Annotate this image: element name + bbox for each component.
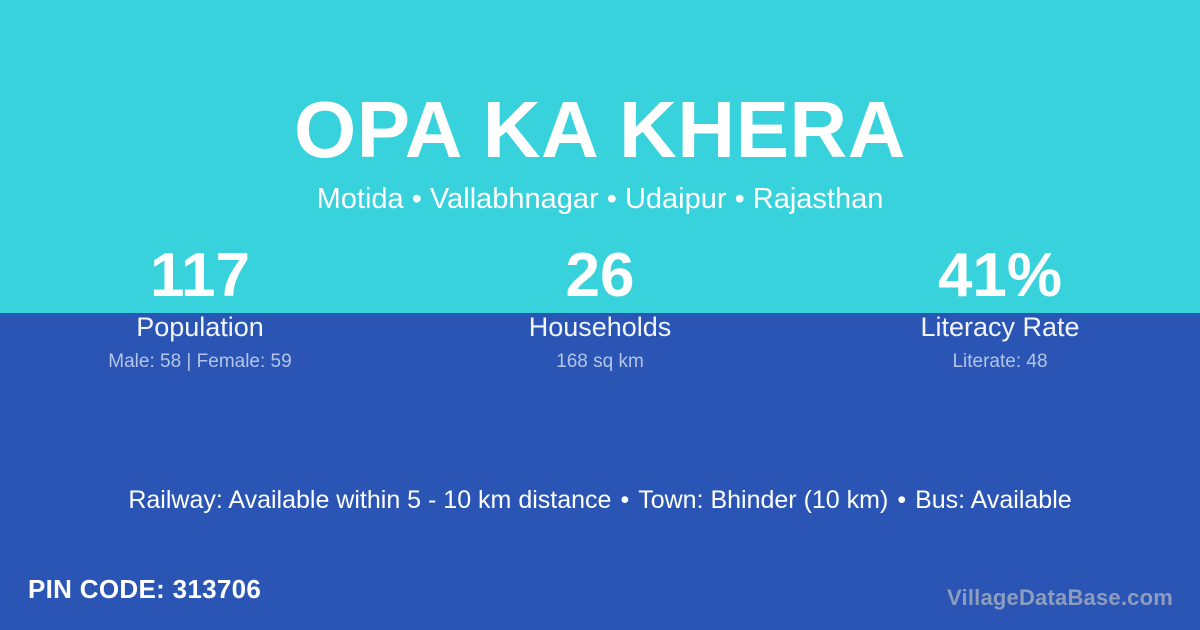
stat-value: 41% (800, 243, 1200, 309)
pin-code: PIN CODE: 313706 (28, 574, 261, 604)
stat-households: 26 Households 168 sq km (400, 243, 800, 373)
infra-separator-icon: • (888, 484, 915, 516)
village-info-card: OPA KA KHERA Motida • Vallabhnagar • Uda… (0, 0, 1200, 630)
infrastructure-line: Railway: Available within 5 - 10 km dist… (0, 484, 1200, 516)
stat-population: 117 Population Male: 58 | Female: 59 (0, 243, 400, 373)
stat-label: Households (400, 312, 800, 343)
breadcrumb: Motida • Vallabhnagar • Udaipur • Rajast… (0, 182, 1200, 216)
stat-value: 117 (0, 243, 400, 309)
infra-bus: Bus: Available (915, 486, 1072, 514)
stat-detail: Male: 58 | Female: 59 (0, 351, 400, 373)
stat-detail: 168 sq km (400, 351, 800, 373)
stat-value: 26 (400, 243, 800, 309)
stat-label: Population (0, 312, 400, 343)
site-brand: VillageDataBase.com (947, 585, 1173, 611)
infra-separator-icon: • (611, 484, 638, 516)
stat-detail: Literate: 48 (800, 351, 1200, 373)
stats-row: 117 Population Male: 58 | Female: 59 26 … (0, 243, 1200, 373)
stat-label: Literacy Rate (800, 312, 1200, 343)
page-title: OPA KA KHERA (0, 83, 1200, 177)
stat-literacy-rate: 41% Literacy Rate Literate: 48 (800, 243, 1200, 373)
infra-railway: Railway: Available within 5 - 10 km dist… (128, 486, 611, 514)
infra-town: Town: Bhinder (10 km) (638, 486, 888, 514)
